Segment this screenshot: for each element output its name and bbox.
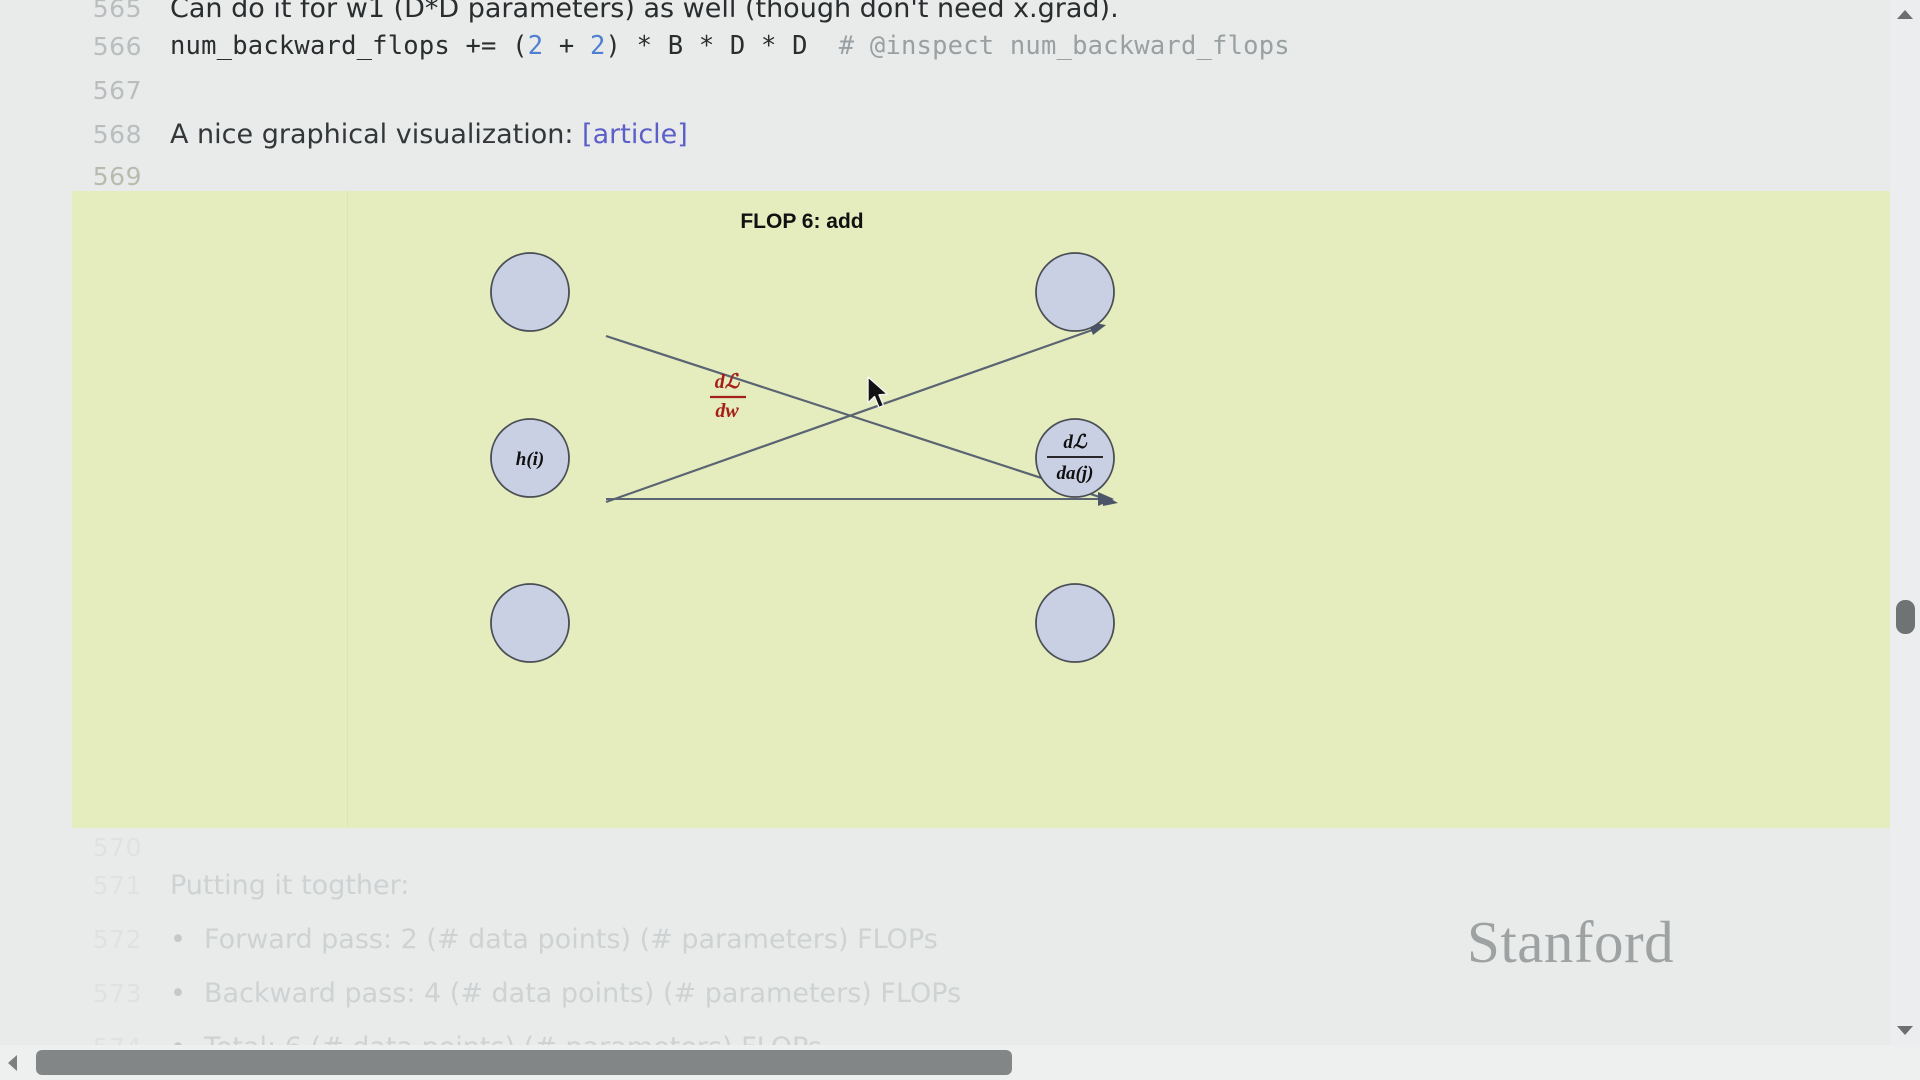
scroll-up-arrow-icon[interactable] — [1897, 10, 1913, 19]
grad-label-denominator: dw — [715, 400, 739, 422]
line-number: 574 — [0, 1033, 170, 1046]
line-text: Putting it togther: — [170, 870, 1890, 901]
bullet-text: Forward pass: 2 (# data points) (# param… — [204, 924, 938, 955]
grad-label-numerator: dℒ — [715, 371, 741, 393]
bullet-icon: • — [170, 1032, 204, 1046]
node-out-mid-numerator: dℒ — [1063, 432, 1088, 453]
app-window: 565 Can do it for w1 (D*D parameters) as… — [0, 0, 1920, 1080]
notebook-content: 565 Can do it for w1 (D*D parameters) as… — [0, 0, 1890, 1045]
scroll-down-arrow-icon[interactable] — [1897, 1026, 1913, 1035]
stanford-watermark: Stanford — [1467, 908, 1674, 977]
horizontal-scrollbar[interactable] — [0, 1045, 1920, 1080]
article-link[interactable]: [article] — [582, 119, 688, 150]
bullet-text: Total: 6 (# data points) (# parameters) … — [204, 1032, 822, 1046]
edge-inmid-to-outtop — [606, 328, 1098, 502]
node-out-mid[interactable] — [1036, 419, 1114, 497]
vertical-scrollbar[interactable] — [1890, 0, 1920, 1045]
code-line-567[interactable]: 567 — [0, 66, 1890, 114]
code-line-568[interactable]: 568 A nice graphical visualization: [art… — [0, 110, 1890, 158]
gradient-edge-label: dℒ dw — [710, 371, 746, 422]
line-text: Can do it for w1 (D*D parameters) as wel… — [170, 0, 1890, 24]
code-line-574[interactable]: 574 •Total: 6 (# data points) (# paramet… — [0, 1020, 1890, 1045]
node-out-bottom[interactable] — [1036, 584, 1114, 662]
line-number: 566 — [0, 32, 170, 61]
code-token: ) * B * D * D — [606, 31, 839, 61]
line-text: A nice graphical visualization: [article… — [170, 119, 1890, 150]
bullet-text: Backward pass: 4 (# data points) (# para… — [204, 978, 961, 1009]
code-number-token: 2 — [590, 31, 606, 61]
diagram-nodes: h(i) dℒ da(j) — [491, 253, 1114, 662]
bullet-icon: • — [170, 978, 204, 1009]
code-line-566[interactable]: 566 num_backward_flops += (2 + 2) * B * … — [0, 22, 1890, 70]
line-text: •Total: 6 (# data points) (# parameters)… — [170, 1032, 1890, 1046]
code-token: + — [543, 31, 590, 61]
node-in-top[interactable] — [491, 253, 569, 331]
line-number: 573 — [0, 979, 170, 1008]
node-in-bottom[interactable] — [491, 584, 569, 662]
diagram-title: FLOP 6: add — [740, 210, 863, 233]
vertical-scrollbar-thumb[interactable] — [1896, 600, 1915, 634]
line-number: 571 — [0, 871, 170, 900]
node-out-top[interactable] — [1036, 253, 1114, 331]
code-line-571[interactable]: 571 Putting it togther: — [0, 858, 1890, 912]
line-number: 565 — [0, 0, 170, 23]
prose-text: A nice graphical visualization: — [170, 119, 582, 150]
bullet-icon: • — [170, 924, 204, 955]
code-comment-token: # @inspect num_backward_flops — [839, 31, 1290, 61]
line-number: 567 — [0, 76, 170, 105]
node-out-mid-denominator: da(j) — [1057, 463, 1094, 484]
code-number-token: 2 — [528, 31, 544, 61]
line-text: •Backward pass: 4 (# data points) (# par… — [170, 978, 1890, 1009]
horizontal-scrollbar-thumb[interactable] — [36, 1050, 1012, 1075]
scrollbar-corner — [1890, 1045, 1920, 1080]
code-token: num_backward_flops += ( — [170, 31, 528, 61]
scroll-left-arrow-icon[interactable] — [8, 1055, 17, 1071]
output-cell: FLOP 6: add dℒ dw — [72, 191, 1890, 828]
line-number: 572 — [0, 925, 170, 954]
line-text: num_backward_flops += (2 + 2) * B * D * … — [170, 31, 1890, 61]
line-number: 569 — [0, 162, 170, 191]
flop-diagram: FLOP 6: add dℒ dw — [72, 191, 1890, 828]
node-in-mid-label: h(i) — [516, 449, 545, 470]
slide-seam — [347, 191, 348, 828]
line-number: 568 — [0, 120, 170, 149]
